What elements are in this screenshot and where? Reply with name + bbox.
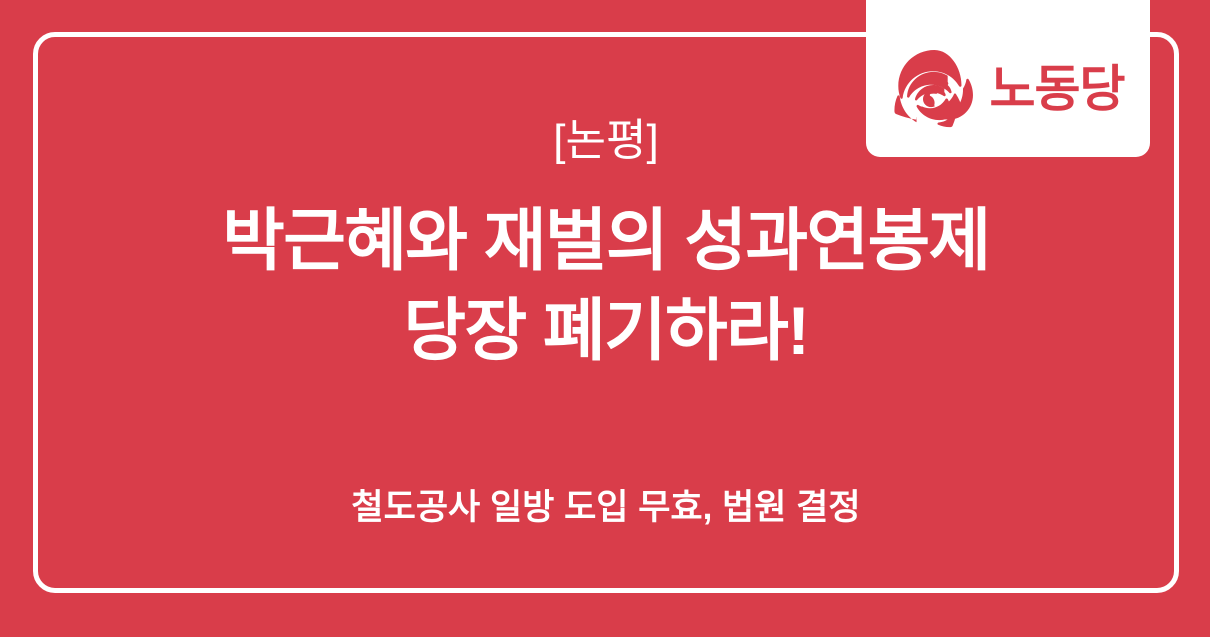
subheadline: 철도공사 일방 도입 무효, 법원 결정 bbox=[351, 490, 860, 525]
kicker-label: [논평] bbox=[553, 119, 658, 163]
headline-line-1: 박근혜와 재벌의 성과연봉제 bbox=[222, 197, 990, 287]
poster-content: [논평] 박근혜와 재벌의 성과연봉제 당장 폐기하라! 철도공사 일방 도입 … bbox=[38, 37, 1174, 588]
headline: 박근혜와 재벌의 성과연봉제 당장 폐기하라! bbox=[222, 197, 990, 377]
poster-canvas: 노동당 [논평] 박근혜와 재벌의 성과연봉제 당장 폐기하라! 철도공사 일방… bbox=[0, 0, 1210, 637]
headline-line-2: 당장 폐기하라! bbox=[222, 287, 990, 377]
